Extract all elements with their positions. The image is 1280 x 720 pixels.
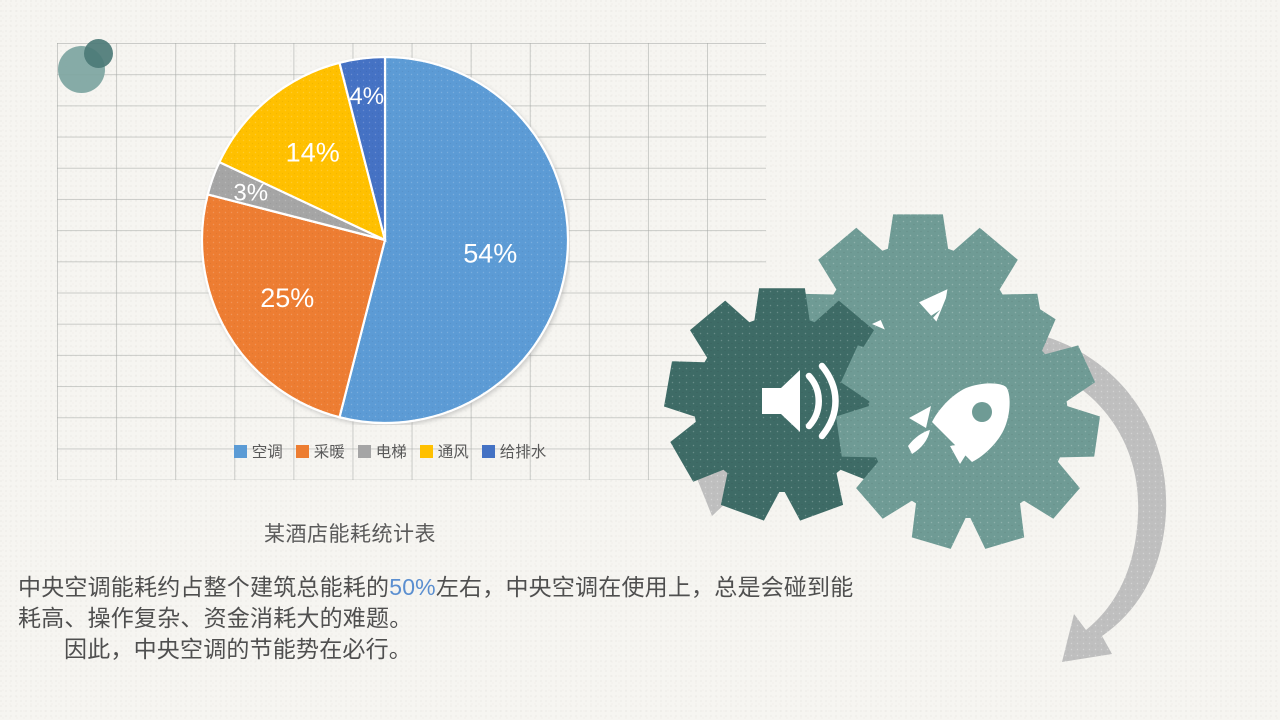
chart-caption: 某酒店能耗统计表	[0, 518, 700, 548]
legend-item-通风[interactable]: 通风	[420, 440, 469, 462]
pie-label-空调: 54%	[463, 238, 517, 268]
logo-small-circle	[84, 39, 113, 68]
legend-swatch-icon	[296, 445, 309, 458]
legend-swatch-icon	[420, 445, 433, 458]
paragraph-1-part-1: 中央空调能耗约占整个建筑总能耗的	[18, 574, 389, 600]
chart-legend: 空调采暖电梯通风给排水	[210, 438, 570, 464]
paragraph-1-highlight: 50%	[389, 574, 436, 600]
legend-label: 采暖	[314, 440, 345, 462]
pie-label-通风: 14%	[286, 138, 340, 168]
slide-canvas: 54%25%3%14%4% 空调采暖电梯通风给排水 某酒店能耗统计表 中央空调能…	[0, 0, 1280, 720]
legend-item-电梯[interactable]: 电梯	[358, 440, 407, 462]
gears-svg	[650, 150, 1280, 670]
legend-item-空调[interactable]: 空调	[234, 440, 283, 462]
legend-item-给排水[interactable]: 给排水	[482, 440, 547, 462]
legend-label: 通风	[438, 440, 469, 462]
legend-swatch-icon	[358, 445, 371, 458]
legend-label: 给排水	[500, 440, 547, 462]
legend-swatch-icon	[234, 445, 247, 458]
pie-label-电梯: 3%	[233, 180, 268, 207]
decorative-circles-logo	[58, 39, 114, 95]
pie-chart: 54%25%3%14%4%	[200, 55, 570, 425]
gears-illustration	[650, 150, 1280, 670]
legend-item-采暖[interactable]: 采暖	[296, 440, 345, 462]
pie-chart-svg: 54%25%3%14%4%	[200, 55, 570, 425]
pie-label-采暖: 25%	[260, 283, 314, 313]
legend-label: 电梯	[376, 440, 407, 462]
pie-label-给排水: 4%	[349, 83, 384, 110]
legend-label: 空调	[252, 440, 283, 462]
legend-swatch-icon	[482, 445, 495, 458]
